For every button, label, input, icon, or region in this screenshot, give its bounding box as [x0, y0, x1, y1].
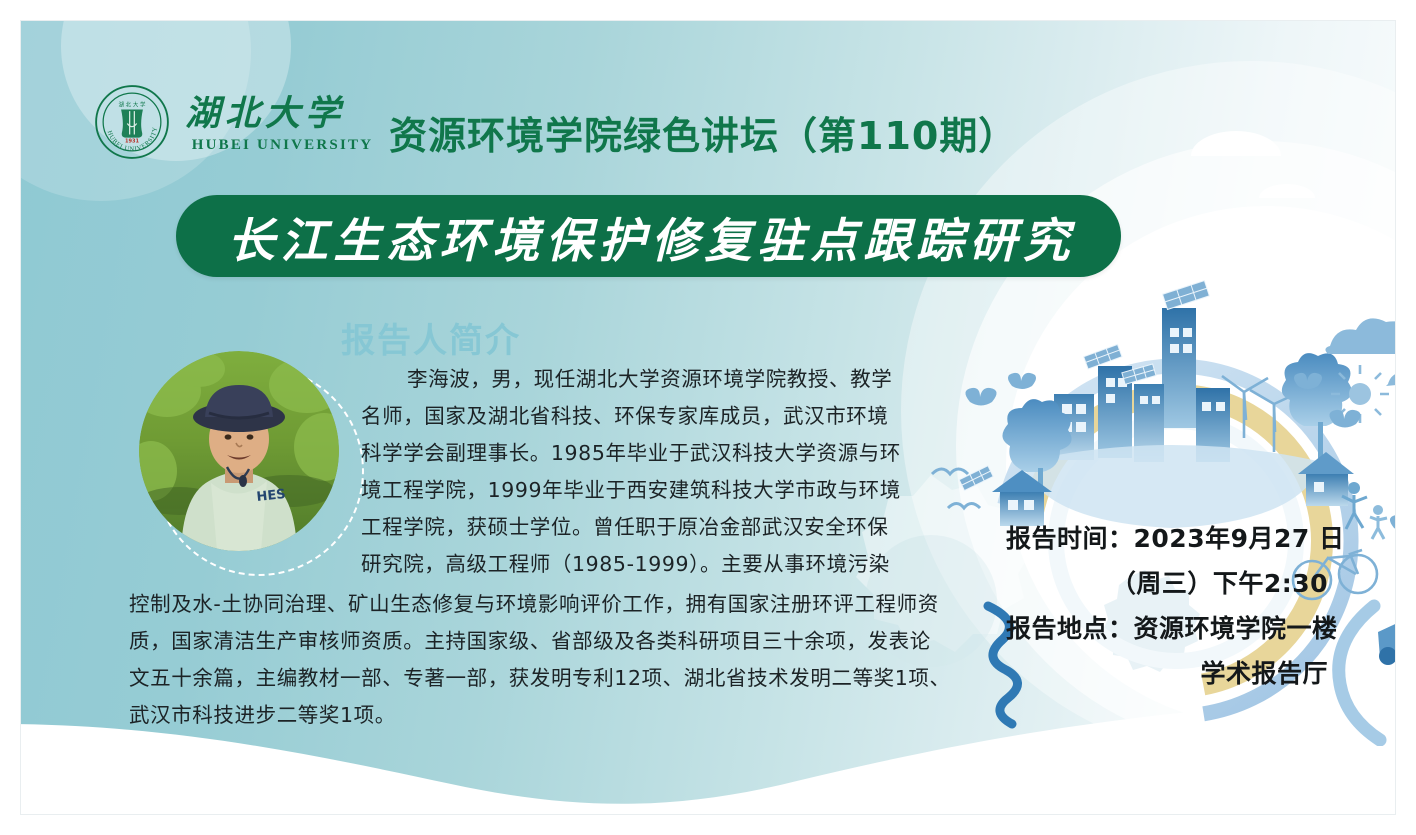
poster-frame: 湖 北 大 学 1931 HUBEI UNIVERSITY 湖北大学 HUBEI… [20, 20, 1396, 815]
university-wordmark: 湖北大学 HUBEI UNIVERSITY [185, 92, 380, 153]
title-banner: 长江生态环境保护修复驻点跟踪研究 [176, 195, 1121, 277]
svg-text:1931: 1931 [125, 138, 140, 144]
university-logo: 湖 北 大 学 1931 HUBEI UNIVERSITY 湖北大学 HUBEI… [93, 83, 380, 161]
svg-text:湖 北 大 学: 湖 北 大 学 [118, 100, 146, 108]
bio-line: 名师，国家及湖北省科技、环保专家库成员，武汉市环境 [361, 398, 901, 435]
event-time-label: 报告时间： [1006, 524, 1134, 553]
event-time-row: 报告时间：2023年9月27 日 [1006, 516, 1336, 561]
speaker-portrait: HES [139, 351, 339, 551]
bio-line: 李海波，男，现任湖北大学资源环境学院教授、教学 [361, 361, 901, 398]
page-title: 资源环境学院绿色讲坛（第110期） [389, 105, 1017, 160]
event-info: 报告时间：2023年9月27 日 （周三）下午2:30 报告地点：资源环境学院一… [1006, 516, 1336, 696]
poster-root: 湖 北 大 学 1931 HUBEI UNIVERSITY 湖北大学 HUBEI… [0, 0, 1416, 835]
wordmark-chinese-icon: 湖北大学 [185, 92, 380, 134]
event-place-label: 报告地点： [1006, 614, 1134, 643]
bio-wide-text: 控制及水-土协同治理、矿山生态修复与环境影响评价工作，拥有国家注册环评工程师资 … [129, 586, 919, 734]
event-place-row: 报告地点：资源环境学院一楼 [1006, 606, 1336, 651]
event-time-value: 2023年9月27 日 [1134, 524, 1345, 553]
bio-line: 科学学会副理事长。1985年毕业于武汉科技大学资源与环 [361, 435, 901, 472]
bio-line: 境工程学院，1999年毕业于西安建筑科技大学市政与环境 [361, 472, 901, 509]
banner-title-text: 长江生态环境保护修复驻点跟踪研究 [176, 195, 1121, 277]
svg-text:HES: HES [256, 487, 287, 505]
bio-column-text: 李海波，男，现任湖北大学资源环境学院教授、教学 名师，国家及湖北省科技、环保专家… [361, 361, 901, 583]
bio-line: 文五十余篇，主编教材一部、专著一部，获发明专利12项、湖北省技术发明二等奖1项、 [129, 660, 919, 697]
bio-heading: 报告人简介 [341, 313, 521, 362]
event-place-value: 资源环境学院一楼 [1134, 614, 1338, 643]
bio-line: 质，国家清洁生产审核师资质。主持国家级、省部级及各类科研项目三十余项，发表论 [129, 623, 919, 660]
hubei-university-seal-icon: 湖 北 大 学 1931 HUBEI UNIVERSITY [93, 83, 171, 161]
wordmark-english: HUBEI UNIVERSITY [192, 138, 374, 153]
event-time-row-2: （周三）下午2:30 [1006, 561, 1336, 606]
event-place-row-2: 学术报告厅 [1006, 651, 1336, 696]
svg-text:湖北大学: 湖北大学 [185, 93, 345, 134]
bio-line: 工程学院，获硕士学位。曾任职于原冶金部武汉安全环保 [361, 509, 901, 546]
bio-line: 武汉市科技进步二等奖1项。 [129, 697, 919, 734]
bio-line: 研究院，高级工程师（1985-1999）。主要从事环境污染 [361, 546, 901, 583]
bio-line: 控制及水-土协同治理、矿山生态修复与环境影响评价工作，拥有国家注册环评工程师资 [129, 586, 919, 623]
